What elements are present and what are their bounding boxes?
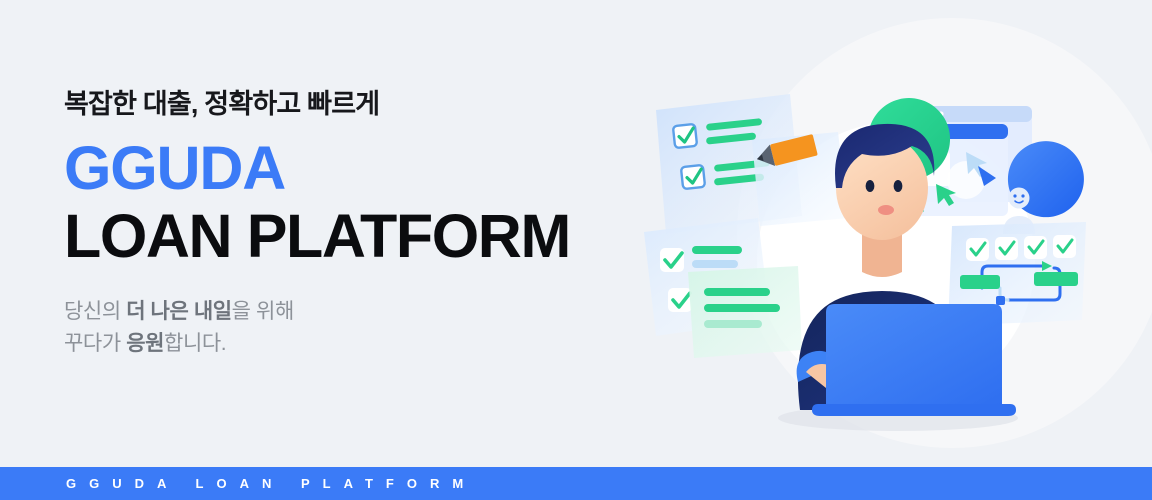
hero-brand-title: GGUDA <box>64 136 624 201</box>
hero-eyebrow: 복잡한 대출, 정확하고 빠르게 <box>64 88 624 122</box>
ribbon-text: GGUDA LOAN PLATFORM <box>0 476 476 491</box>
tagline-2-plain-a: 꾸다가 <box>64 332 126 355</box>
tagline-2-plain-b: 합니다. <box>164 332 226 355</box>
hero-product-title: LOAN PLATFORM <box>64 204 624 269</box>
note-card-green <box>688 266 802 358</box>
tagline-1-plain-b: 을 위해 <box>232 300 294 323</box>
tagline-1-plain-a: 당신의 <box>64 300 126 323</box>
hero-copy: 복잡한 대출, 정확하고 빠르게 GGUDA LOAN PLATFORM 당신의… <box>64 88 624 360</box>
bottom-ribbon: GGUDA LOAN PLATFORM <box>0 467 1152 500</box>
pencil-note-card <box>752 132 848 226</box>
hero-banner: 복잡한 대출, 정확하고 빠르게 GGUDA LOAN PLATFORM 당신의… <box>0 0 1152 500</box>
hero-illustration <box>630 20 1130 450</box>
tagline-2-bold: 응원 <box>126 332 164 355</box>
tagline-1-bold: 더 나은 내일 <box>126 300 231 323</box>
hero-tagline-line-2: 꾸다가 응원합니다. <box>64 328 624 360</box>
hero-tagline-line-1: 당신의 더 나은 내일을 위해 <box>64 296 624 328</box>
hero-tagline: 당신의 더 나은 내일을 위해 꾸다가 응원합니다. <box>64 296 624 360</box>
laptop <box>812 304 1016 416</box>
